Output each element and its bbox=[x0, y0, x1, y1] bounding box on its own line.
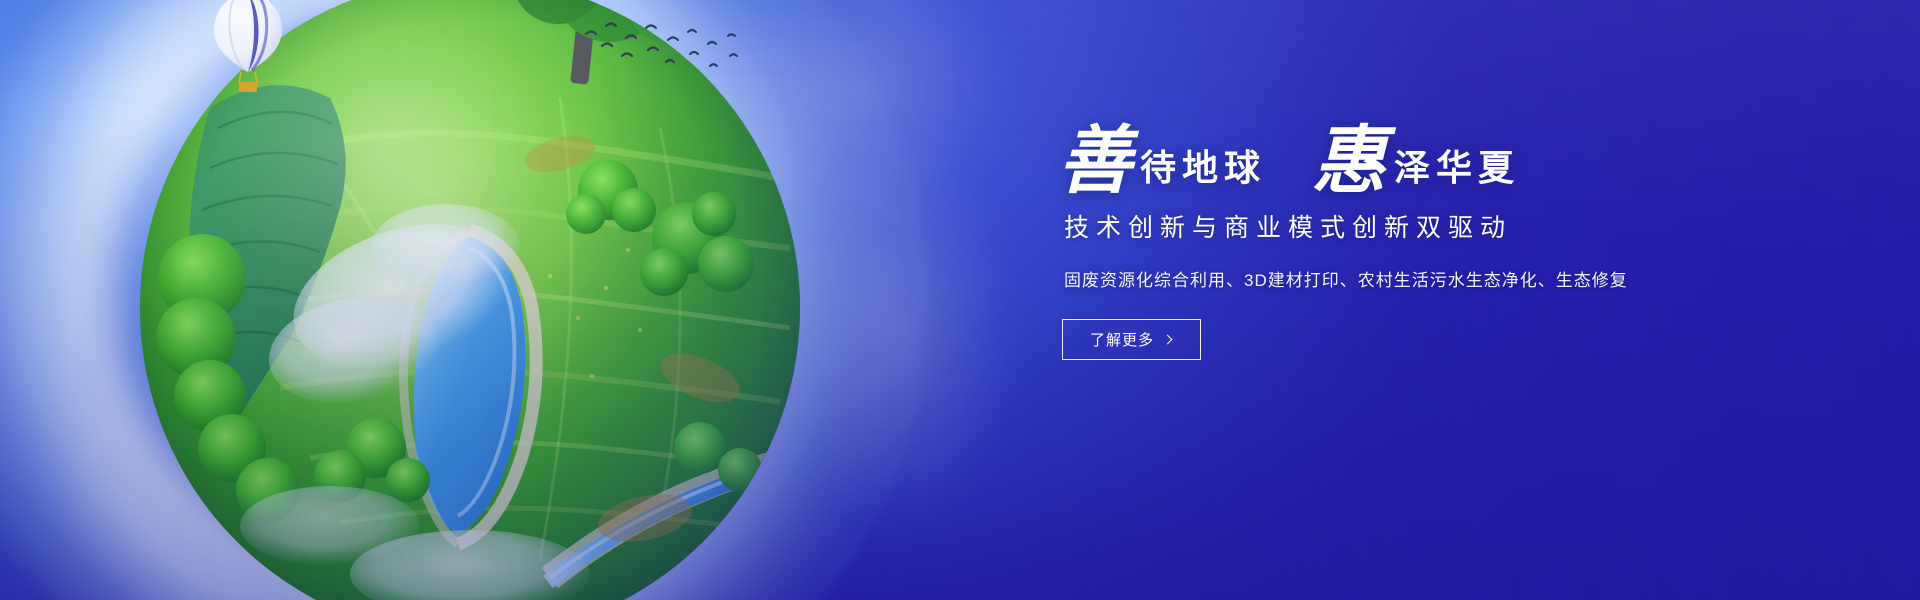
cloud-wisp bbox=[700, 0, 1020, 240]
hero-subtitle: 技术创新与商业模式创新双驱动 bbox=[1064, 208, 1818, 244]
headline-big-char-1: 善 bbox=[1058, 124, 1132, 198]
learn-more-label: 了解更多 bbox=[1090, 329, 1154, 350]
cloud-wisp bbox=[60, 0, 360, 300]
globe-atmosphere-halo bbox=[0, 0, 930, 600]
headline-small-text-1: 待地球 bbox=[1132, 150, 1268, 194]
globe-highlight bbox=[140, 0, 800, 600]
headline-small-text-2: 泽华夏 bbox=[1386, 150, 1522, 194]
hero-banner: 善 待地球 惠 泽华夏 技术创新与商业模式创新双驱动 固废资源化综合利用、3D建… bbox=[0, 0, 1920, 600]
cloud-wisp bbox=[40, 330, 400, 600]
earth-artwork bbox=[140, 0, 800, 600]
headline-big-char-2: 惠 bbox=[1312, 124, 1386, 198]
page-title: 善 待地球 惠 泽华夏 bbox=[1058, 120, 1818, 194]
cloud-wisp bbox=[780, 120, 1020, 540]
globe-terrain bbox=[140, 0, 800, 600]
hero-description: 固废资源化综合利用、3D建材打印、农村生活污水生态净化、生态修复 bbox=[1064, 266, 1818, 291]
globe-sphere bbox=[140, 0, 800, 600]
birds-icon bbox=[580, 20, 740, 80]
learn-more-button[interactable]: 了解更多 bbox=[1062, 319, 1201, 360]
chevron-right-icon bbox=[1163, 335, 1173, 345]
hero-content: 善 待地球 惠 泽华夏 技术创新与商业模式创新双驱动 固废资源化综合利用、3D建… bbox=[1058, 120, 1818, 360]
hot-air-balloon-icon bbox=[208, 0, 288, 98]
globe-atmosphere-inner bbox=[0, 0, 870, 600]
globe-terminator bbox=[140, 0, 800, 600]
